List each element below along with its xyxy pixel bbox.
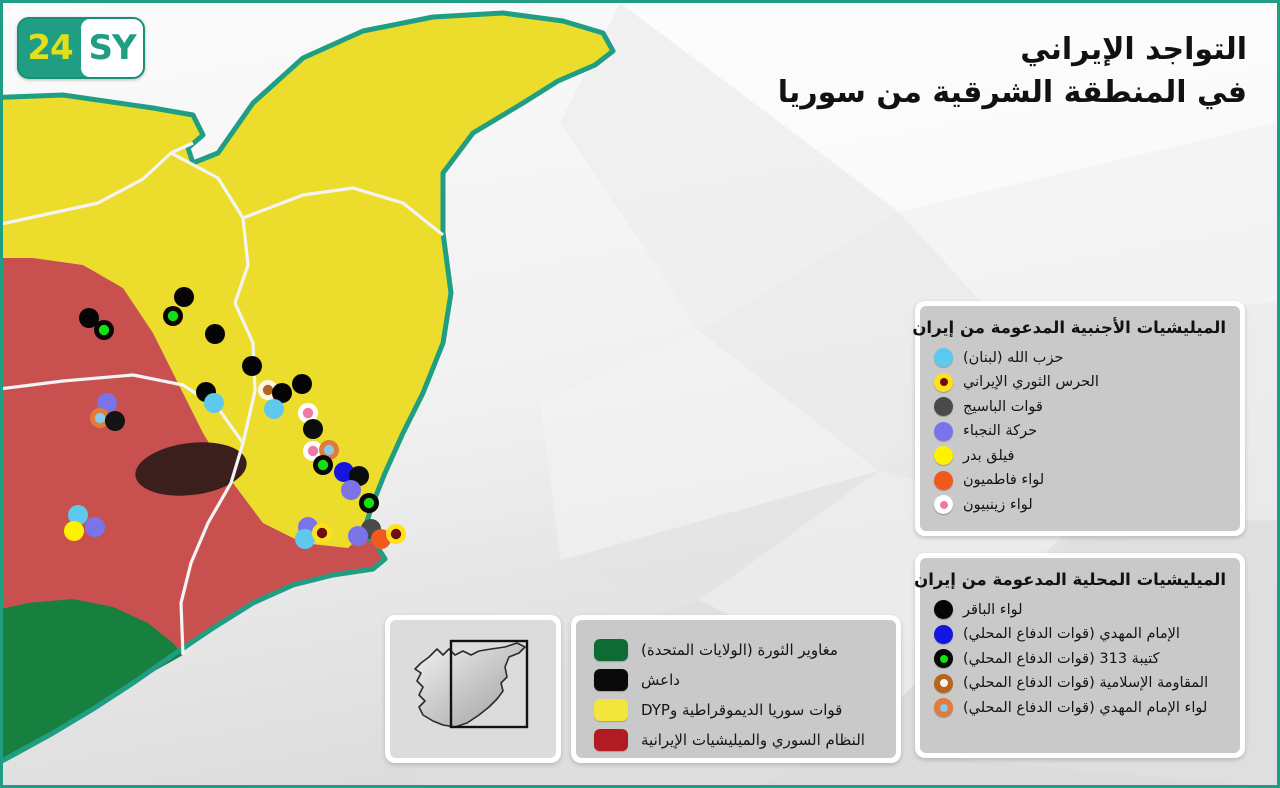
sy24-logo[interactable]: SY 24 bbox=[17, 17, 145, 79]
map-marker-center bbox=[364, 498, 374, 508]
map-marker-center bbox=[317, 528, 327, 538]
legend-foreign-item-row[interactable]: الحرس الثوري الإيراني bbox=[934, 373, 1226, 392]
map-marker bbox=[105, 411, 125, 431]
map-marker bbox=[64, 521, 84, 541]
legend-local-item-swatch-icon bbox=[934, 674, 953, 693]
legend-local-item-row[interactable]: الإمام المهدي (قوات الدفاع المحلي) bbox=[934, 625, 1226, 644]
legend-foreign-item-label: لواء زينبيون bbox=[963, 497, 1033, 513]
legend-territory-swatch-icon bbox=[594, 669, 628, 691]
legend-local-militias: الميليشيات المحلية المدعومة من إيران لوا… bbox=[915, 553, 1245, 758]
legend-foreign-item-label: حزب الله (لبنان) bbox=[963, 350, 1063, 366]
map-marker-center bbox=[308, 446, 318, 456]
map-marker-center bbox=[168, 311, 178, 321]
legend-local-item-label: الإمام المهدي (قوات الدفاع المحلي) bbox=[963, 626, 1180, 642]
legend-foreign-item-swatch-icon bbox=[934, 446, 953, 465]
legend-local-item-label: كتيبة 313 (قوات الدفاع المحلي) bbox=[963, 651, 1160, 667]
page-title: التواجد الإيراني في المنطقة الشرقية من س… bbox=[778, 29, 1247, 114]
legend-foreign-item-swatch-icon bbox=[934, 397, 953, 416]
legend-foreign-item-row[interactable]: لواء فاطميون bbox=[934, 471, 1226, 490]
legend-local-item-row[interactable]: لواء الباقر bbox=[934, 600, 1226, 619]
legend-territory-swatch-icon bbox=[594, 729, 628, 751]
map-marker bbox=[85, 517, 105, 537]
legend-foreign-item-row[interactable]: حزب الله (لبنان) bbox=[934, 348, 1226, 367]
legend-local-title: الميليشيات المحلية المدعومة من إيران bbox=[934, 570, 1226, 589]
legend-local-item-row[interactable]: لواء الإمام المهدي (قوات الدفاع المحلي) bbox=[934, 698, 1226, 717]
map-marker bbox=[264, 399, 284, 419]
legend-territory-row[interactable]: النظام السوري والميليشيات الإيرانية bbox=[594, 729, 878, 751]
legend-foreign-item-swatch-center bbox=[940, 378, 948, 386]
legend-foreign-item-swatch-icon bbox=[934, 471, 953, 490]
legend-foreign-item-swatch-icon bbox=[934, 373, 953, 392]
map-marker-center bbox=[95, 413, 105, 423]
title-line-2: في المنطقة الشرقية من سوريا bbox=[778, 72, 1247, 115]
legend-foreign-item-label: فيلق بدر bbox=[963, 448, 1014, 464]
legend-local-item-label: لواء الإمام المهدي (قوات الدفاع المحلي) bbox=[963, 700, 1207, 716]
map-marker bbox=[174, 287, 194, 307]
map-marker bbox=[204, 393, 224, 413]
legend-foreign-militias: الميليشيات الأجنبية المدعومة من إيران حز… bbox=[915, 301, 1245, 536]
legend-territory-label: مغاوير الثورة (الولايات المتحدة) bbox=[641, 641, 838, 659]
legend-local-item-label: المقاومة الإسلامية (قوات الدفاع المحلي) bbox=[963, 675, 1208, 691]
inset-syria-outline bbox=[393, 625, 553, 753]
legend-foreign-item-label: الحرس الثوري الإيراني bbox=[963, 374, 1099, 390]
map-marker bbox=[292, 374, 312, 394]
map-marker-center bbox=[318, 460, 328, 470]
map-marker-center bbox=[263, 385, 273, 395]
legend-local-item-swatch-center bbox=[940, 655, 948, 663]
map-marker bbox=[303, 419, 323, 439]
legend-foreign-item-swatch-icon bbox=[934, 422, 953, 441]
map-marker bbox=[205, 324, 225, 344]
legend-foreign-list: حزب الله (لبنان)الحرس الثوري الإيرانيقوا… bbox=[934, 348, 1226, 514]
map-marker-center bbox=[391, 529, 401, 539]
legend-territory-row[interactable]: قوات سوريا الديموقراطية وDYP bbox=[594, 699, 878, 721]
logo-24-text: 24 bbox=[19, 19, 81, 77]
legend-local-item-swatch-center bbox=[940, 704, 948, 712]
inset-country-shape bbox=[415, 643, 525, 727]
map-marker-center bbox=[324, 445, 334, 455]
map-marker bbox=[348, 526, 368, 546]
legend-foreign-item-row[interactable]: حركة النجباء bbox=[934, 422, 1226, 441]
legend-local-list: لواء الباقرالإمام المهدي (قوات الدفاع ال… bbox=[934, 600, 1226, 717]
legend-territory-swatch-icon bbox=[594, 639, 628, 661]
legend-territory-swatch-icon bbox=[594, 699, 628, 721]
legend-local-item-swatch-center bbox=[940, 679, 948, 687]
legend-foreign-item-swatch-icon bbox=[934, 348, 953, 367]
title-line-1: التواجد الإيراني bbox=[778, 29, 1247, 72]
legend-local-item-swatch-icon bbox=[934, 600, 953, 619]
legend-local-item-label: لواء الباقر bbox=[963, 602, 1023, 618]
legend-foreign-item-label: قوات الباسيج bbox=[963, 399, 1043, 415]
map-marker bbox=[341, 480, 361, 500]
legend-local-item-swatch-icon bbox=[934, 649, 953, 668]
legend-territory-list: مغاوير الثورة (الولايات المتحدة)داعشقوات… bbox=[594, 639, 878, 751]
inset-locator-map bbox=[385, 615, 561, 763]
legend-territory-control: مغاوير الثورة (الولايات المتحدة)داعشقوات… bbox=[571, 615, 901, 763]
legend-territory-label: قوات سوريا الديموقراطية وDYP bbox=[641, 701, 842, 719]
legend-local-item-row[interactable]: كتيبة 313 (قوات الدفاع المحلي) bbox=[934, 649, 1226, 668]
legend-foreign-item-label: حركة النجباء bbox=[963, 423, 1037, 439]
legend-local-item-swatch-icon bbox=[934, 698, 953, 717]
map-marker-center bbox=[303, 408, 313, 418]
legend-foreign-item-swatch-icon bbox=[934, 495, 953, 514]
legend-foreign-item-swatch-center bbox=[940, 501, 948, 509]
legend-local-item-swatch-icon bbox=[934, 625, 953, 644]
map-marker bbox=[295, 529, 315, 549]
legend-territory-row[interactable]: مغاوير الثورة (الولايات المتحدة) bbox=[594, 639, 878, 661]
infographic-canvas: SY 24 التواجد الإيراني في المنطقة الشرقي… bbox=[0, 0, 1280, 788]
legend-foreign-item-row[interactable]: فيلق بدر bbox=[934, 446, 1226, 465]
map-marker bbox=[242, 356, 262, 376]
legend-territory-label: داعش bbox=[641, 671, 680, 689]
legend-territory-row[interactable]: داعش bbox=[594, 669, 878, 691]
legend-territory-label: النظام السوري والميليشيات الإيرانية bbox=[641, 731, 865, 749]
legend-foreign-item-row[interactable]: لواء زينبيون bbox=[934, 495, 1226, 514]
legend-foreign-item-row[interactable]: قوات الباسيج bbox=[934, 397, 1226, 416]
map-marker-center bbox=[99, 325, 109, 335]
legend-local-item-row[interactable]: المقاومة الإسلامية (قوات الدفاع المحلي) bbox=[934, 674, 1226, 693]
legend-foreign-title: الميليشيات الأجنبية المدعومة من إيران bbox=[934, 318, 1226, 337]
logo-sy-text: SY bbox=[81, 19, 143, 77]
legend-foreign-item-label: لواء فاطميون bbox=[963, 472, 1044, 488]
